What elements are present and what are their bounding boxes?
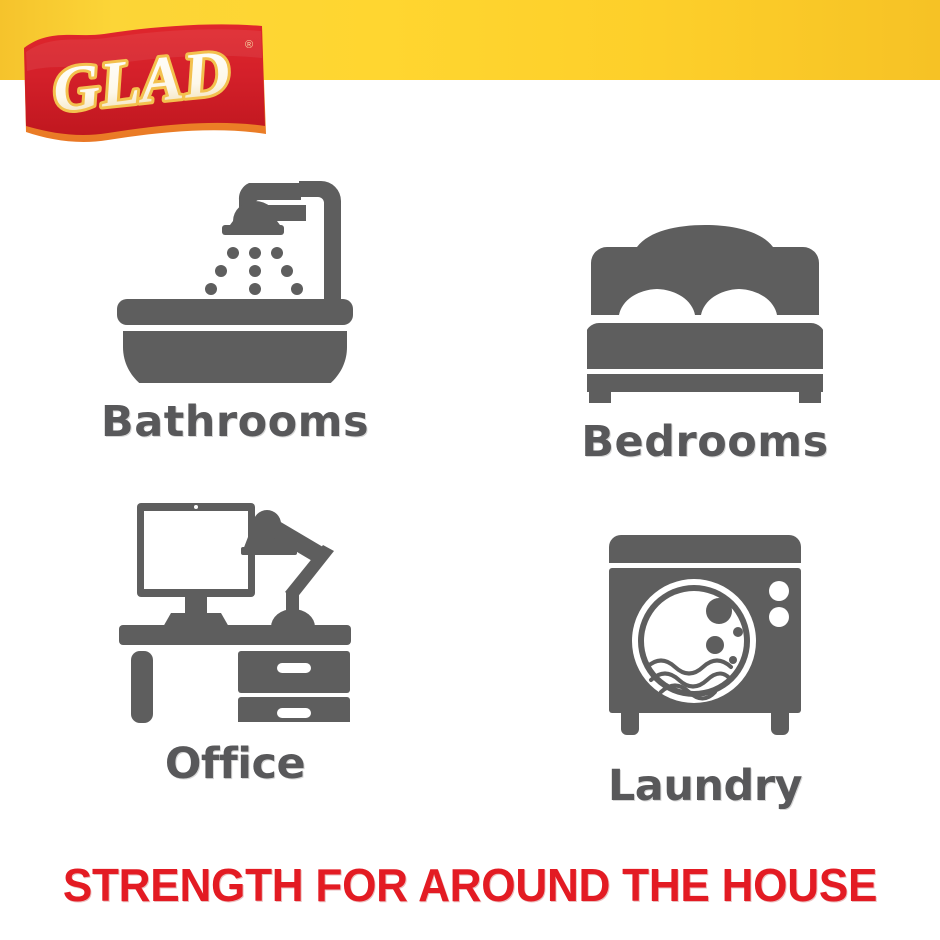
grid-item-office: Office xyxy=(0,510,470,786)
room-icon-grid: Bathrooms xyxy=(0,160,940,850)
grid-item-bathrooms: Bathrooms xyxy=(0,168,470,444)
grid-item-bedrooms: Bedrooms xyxy=(470,188,940,464)
bathtub-shower-icon xyxy=(0,168,470,383)
grid-item-laundry: Laundry xyxy=(470,532,940,808)
bed-icon xyxy=(470,188,940,403)
glad-logo: GLAD GLAD ® xyxy=(16,22,272,150)
grid-item-label: Bedrooms xyxy=(470,421,940,464)
promo-graphic: GLAD GLAD ® xyxy=(0,0,940,940)
washing-machine-icon xyxy=(470,532,940,747)
grid-item-label: Office xyxy=(0,743,470,786)
grid-item-label: Bathrooms xyxy=(0,401,470,444)
registered-trademark-icon: ® xyxy=(245,39,253,51)
tagline: STRENGTH FOR AROUND THE HOUSE xyxy=(19,862,921,908)
grid-item-label: Laundry xyxy=(470,765,940,808)
desk-computer-lamp-icon xyxy=(0,510,470,725)
